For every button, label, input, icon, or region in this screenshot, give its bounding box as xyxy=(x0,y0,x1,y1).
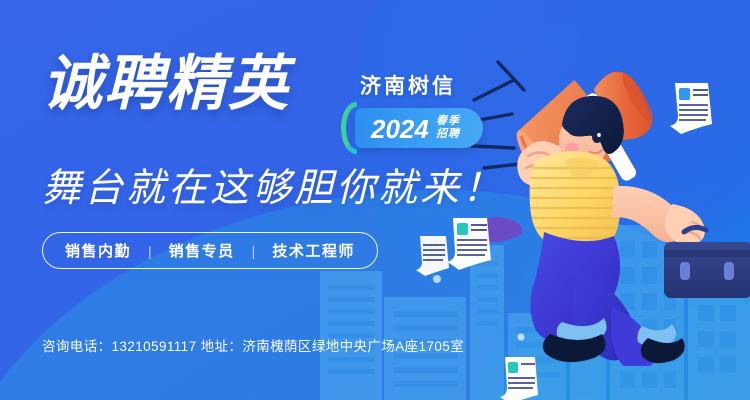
page-subtitle: 舞台就在这够胆你就来！ xyxy=(42,157,504,213)
badge-year: 2024 xyxy=(371,114,429,145)
page-title: 诚聘精英 xyxy=(42,54,290,114)
role-divider: | xyxy=(235,243,273,259)
role-item-1[interactable]: 销售专员 xyxy=(169,240,235,261)
badge-bracket-icon xyxy=(341,102,371,154)
year-badge: 2024 春季 招聘 xyxy=(355,108,483,148)
banner-content: 诚聘精英 济南树信 2024 春季 招聘 舞台就在这够胆你就来！ 销售内勤 | … xyxy=(0,0,750,400)
recruitment-banner: 诚聘精英 济南树信 2024 春季 招聘 舞台就在这够胆你就来！ 销售内勤 | … xyxy=(0,0,750,400)
role-item-0[interactable]: 销售内勤 xyxy=(65,240,131,261)
badge-subtitle-line2: 招聘 xyxy=(436,128,460,140)
roles-pill: 销售内勤 | 销售专员 | 技术工程师 xyxy=(42,232,378,269)
badge-subtitle: 春季 招聘 xyxy=(436,115,460,140)
role-divider: | xyxy=(131,243,169,259)
company-name: 济南树信 xyxy=(360,70,456,100)
role-item-2[interactable]: 技术工程师 xyxy=(272,240,355,261)
contact-info: 咨询电话：13210591117 地址：济南槐荫区绿地中央广场A座1705室 xyxy=(42,335,464,355)
badge-subtitle-line1: 春季 xyxy=(436,115,460,127)
